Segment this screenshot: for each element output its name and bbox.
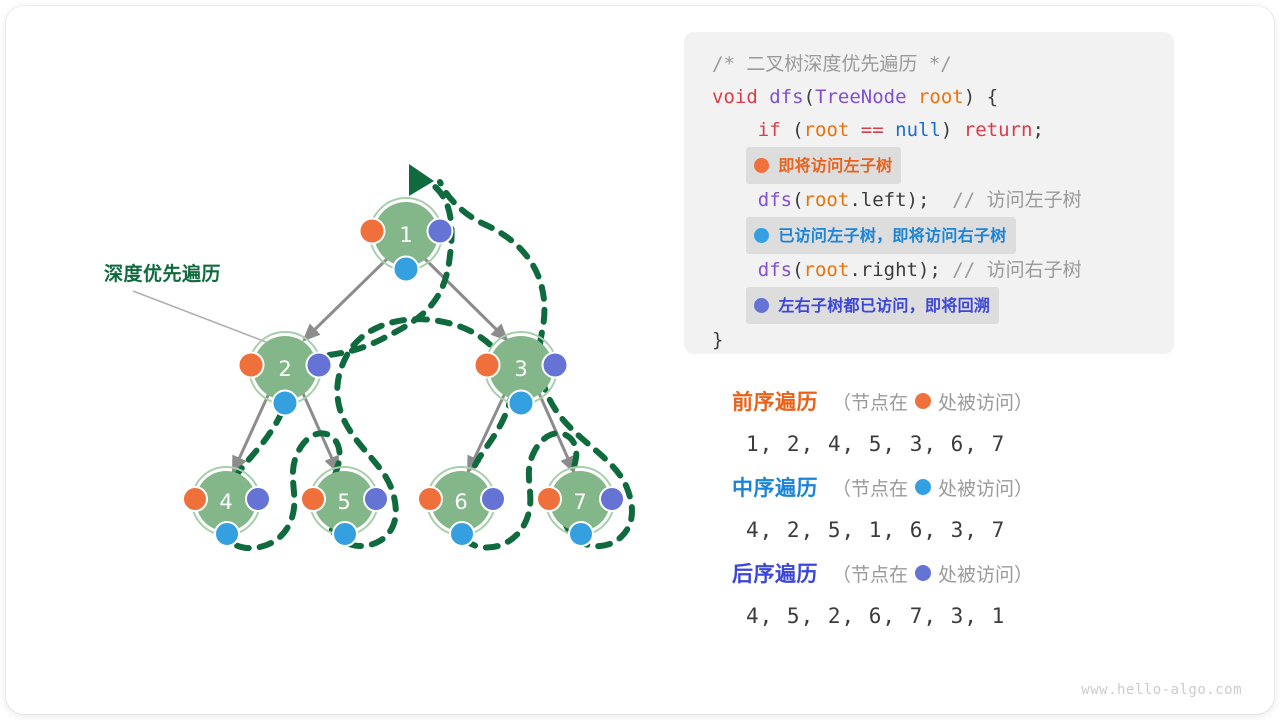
code-line-call-right: dfs(root.right); // 访问右子树 <box>684 254 1174 287</box>
result-note: （节点在 处被访问） <box>832 388 1033 415</box>
in-order-dot-icon <box>915 479 931 495</box>
code-if-paren-open: ( <box>792 119 803 141</box>
code-block: /* 二叉树深度优先遍历 */ void dfs(TreeNode root) … <box>684 32 1174 354</box>
code-note-line-2: 已访问左子树，即将访问右子树 <box>684 217 1174 254</box>
code-right-comment: // 访问右子树 <box>952 259 1081 281</box>
code-left-paren-open: ( <box>792 189 803 211</box>
svg-text:2: 2 <box>278 357 291 381</box>
pre-order-dot <box>475 353 500 378</box>
code-keyword-if: if <box>758 119 781 141</box>
note-pill-text: 即将访问左子树 <box>778 149 892 182</box>
post-order-dot-icon <box>754 298 769 313</box>
pre-order-dot <box>301 487 325 511</box>
code-var-root: root <box>918 86 964 108</box>
code-line-if: if (root == null) return; <box>684 114 1174 147</box>
note-pill-text: 已访问左子树，即将访问右子树 <box>778 219 1006 252</box>
code-right-paren-close: ); <box>918 259 941 281</box>
note-pill-inorder: 已访问左子树，即将访问右子树 <box>746 217 1015 254</box>
post-order-dot <box>307 353 332 378</box>
result-note-prefix: （节点在 <box>832 388 908 415</box>
in-order-dot-icon <box>754 228 769 243</box>
post-order-dot <box>481 487 505 511</box>
tree-node-5[interactable]: 5 <box>301 467 388 546</box>
code-if-var-root: root <box>804 119 850 141</box>
note-pill-text: 左右子树都已访问，即将回溯 <box>778 289 990 322</box>
code-left-prop: .left <box>849 189 906 211</box>
result-note-prefix: （节点在 <box>832 474 908 501</box>
post-order-dot <box>600 487 624 511</box>
binary-tree-diagram: 1 2 3 <box>20 20 670 690</box>
result-header-preorder: 前序遍历 （节点在 处被访问） <box>732 382 1182 420</box>
pre-order-dot <box>183 487 207 511</box>
code-note-line-3: 左右子树都已访问，即将回溯 <box>684 287 1174 324</box>
code-type-treenode: TreeNode <box>815 86 907 108</box>
code-fn-dfs: dfs <box>769 86 803 108</box>
result-title: 后序遍历 <box>732 558 818 588</box>
result-sequence-preorder: 1, 2, 4, 5, 3, 6, 7 <box>732 420 1182 468</box>
in-order-dot <box>450 522 474 546</box>
result-header-postorder: 后序遍历 （节点在 处被访问） <box>732 554 1182 592</box>
post-order-dot <box>428 219 453 244</box>
label-pointer <box>133 291 266 342</box>
code-if-paren-close: ) <box>941 119 952 141</box>
code-semicolon-1: ; <box>1032 119 1043 141</box>
tree-node-4[interactable]: 4 <box>183 467 270 546</box>
play-triangle-icon <box>409 164 434 196</box>
svg-text:5: 5 <box>337 490 350 514</box>
watermark: www.hello-algo.com <box>1081 682 1242 698</box>
code-left-paren-close: ); <box>907 189 930 211</box>
note-pill-preorder: 即将访问左子树 <box>746 147 901 184</box>
result-sequence-inorder: 4, 2, 5, 1, 6, 3, 7 <box>732 506 1182 554</box>
code-keyword-return: return <box>964 119 1033 141</box>
tree-node-6[interactable]: 6 <box>418 467 505 546</box>
result-note-suffix: 处被访问） <box>938 560 1033 587</box>
post-order-dot <box>364 487 388 511</box>
pre-order-dot-icon <box>915 393 931 409</box>
code-line-call-left: dfs(root.left); // 访问左子树 <box>684 184 1174 217</box>
in-order-dot <box>509 391 534 416</box>
post-order-dot-icon <box>915 565 931 581</box>
code-note-line-1: 即将访问左子树 <box>684 147 1174 184</box>
in-order-dot <box>273 391 298 416</box>
svg-text:1: 1 <box>399 223 412 247</box>
result-header-inorder: 中序遍历 （节点在 处被访问） <box>732 468 1182 506</box>
code-right-prop: .right <box>849 259 918 281</box>
code-paren-open: ( <box>804 86 815 108</box>
pre-order-dot-icon <box>754 158 769 173</box>
svg-text:4: 4 <box>219 490 232 514</box>
result-note-suffix: 处被访问） <box>938 474 1033 501</box>
in-order-dot <box>215 522 239 546</box>
code-line-signature: void dfs(TreeNode root) { <box>684 81 1174 114</box>
post-order-dot <box>246 487 270 511</box>
pre-order-dot <box>537 487 561 511</box>
code-paren-close-brace: ) { <box>964 86 998 108</box>
result-note-prefix: （节点在 <box>832 560 908 587</box>
svg-text:7: 7 <box>573 490 586 514</box>
code-line-closing-brace: } <box>684 324 1174 357</box>
code-keyword-void: void <box>712 86 758 108</box>
pre-order-dot <box>360 219 385 244</box>
code-closing-brace: } <box>712 329 723 351</box>
result-note: （节点在 处被访问） <box>832 560 1033 587</box>
post-order-dot <box>543 353 568 378</box>
code-call-dfs-left: dfs <box>758 189 792 211</box>
result-title: 前序遍历 <box>732 386 818 416</box>
result-note: （节点在 处被访问） <box>832 474 1033 501</box>
pre-order-dot <box>418 487 442 511</box>
result-note-suffix: 处被访问） <box>938 388 1033 415</box>
svg-text:3: 3 <box>514 357 527 381</box>
code-operator-eq: == <box>861 119 884 141</box>
traversal-results: 前序遍历 （节点在 处被访问） 1, 2, 4, 5, 3, 6, 7 中序遍历… <box>732 382 1182 640</box>
dfs-annotation-label: 深度优先遍历 <box>104 259 221 286</box>
tree-node-7[interactable]: 7 <box>537 467 624 546</box>
code-call-dfs-right: dfs <box>758 259 792 281</box>
note-pill-postorder: 左右子树都已访问，即将回溯 <box>746 287 999 324</box>
in-order-dot <box>569 522 593 546</box>
in-order-dot <box>394 257 419 282</box>
code-comment-header: /* 二叉树深度优先遍历 */ <box>712 53 952 75</box>
tree-node-1[interactable]: 1 <box>360 198 453 282</box>
in-order-dot <box>333 522 357 546</box>
diagram-canvas: 1 2 3 <box>0 0 1280 720</box>
code-right-var-root: root <box>804 259 850 281</box>
tree-node-2[interactable]: 2 <box>239 332 332 416</box>
svg-text:6: 6 <box>454 490 467 514</box>
code-literal-null: null <box>895 119 941 141</box>
pre-order-dot <box>239 353 264 378</box>
result-title: 中序遍历 <box>732 472 818 502</box>
code-line-comment: /* 二叉树深度优先遍历 */ <box>684 48 1174 81</box>
tree-svg: 1 2 3 <box>20 20 670 690</box>
code-left-var-root: root <box>804 189 850 211</box>
result-sequence-postorder: 4, 5, 2, 6, 7, 3, 1 <box>732 592 1182 640</box>
code-right-paren-open: ( <box>792 259 803 281</box>
code-left-comment: // 访问左子树 <box>952 189 1081 211</box>
